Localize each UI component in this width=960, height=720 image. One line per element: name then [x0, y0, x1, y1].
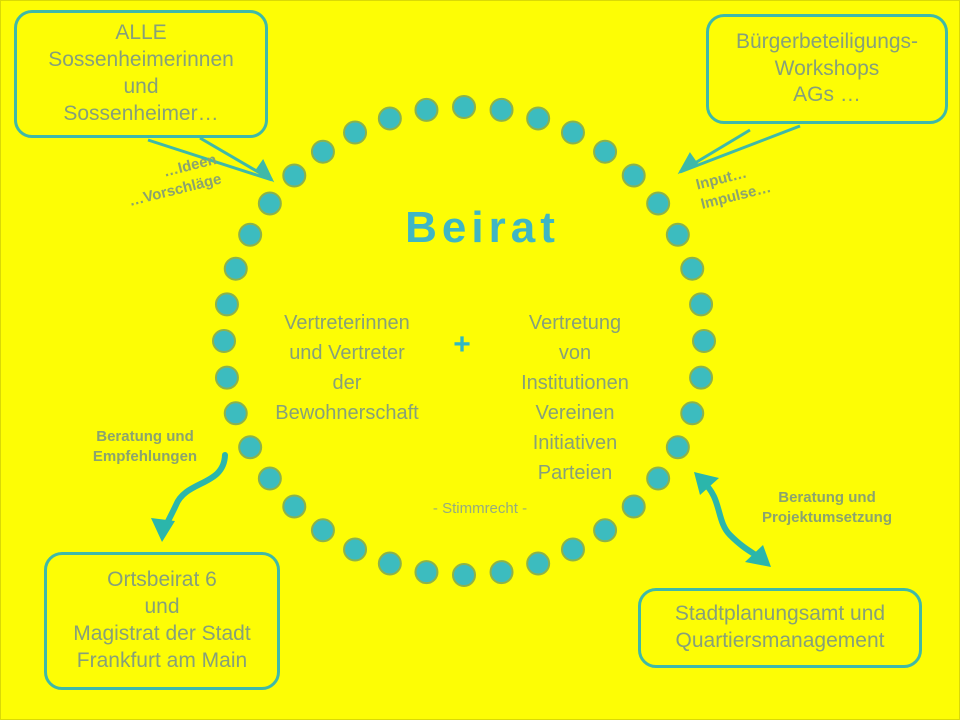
center-line: Institutionen: [480, 368, 670, 398]
center-line: Vereinen: [480, 398, 670, 428]
annotation-line: Projektumsetzung: [752, 508, 902, 528]
speech-bubble-workshops: Bürgerbeteiligungs- Workshops AGs …: [706, 14, 948, 124]
center-line: Vertreterinnen: [252, 308, 442, 338]
box-line: und: [73, 594, 250, 621]
center-line: der: [252, 368, 442, 398]
box-line: Ortsbeirat 6: [73, 567, 250, 594]
arrow-to-ortsbeirat-head: [151, 518, 175, 542]
center-column-institutions: Vertretung von Institutionen Vereinen In…: [480, 308, 670, 488]
page-title: Beirat: [0, 203, 960, 253]
center-line: und Vertreter: [252, 338, 442, 368]
annotation-beratung-projektumsetzung: Beratung und Projektumsetzung: [752, 488, 902, 529]
box-ortsbeirat-magistrat: Ortsbeirat 6 und Magistrat der Stadt Fra…: [44, 552, 280, 690]
bubble-line: ALLE: [48, 20, 234, 47]
box-stadtplanungsamt-quartiersmanagement: Stadtplanungsamt und Quartiersmanagement: [638, 588, 922, 668]
plus-icon: +: [440, 330, 484, 360]
beirat-label: Beirat: [400, 203, 560, 252]
bubble-line: Sossenheimer…: [48, 101, 234, 128]
box-line: Frankfurt am Main: [73, 648, 250, 675]
center-line: Vertretung: [480, 308, 670, 338]
center-line: Parteien: [480, 458, 670, 488]
arrow-to-stadtplanung-head-up: [694, 472, 719, 495]
diagram-canvas: Beirat + Vertreterinnen und Vertreter de…: [0, 0, 960, 720]
center-line: Bewohnerschaft: [252, 398, 442, 428]
bubble-line: und: [48, 74, 234, 101]
bubble-line: Workshops: [736, 56, 918, 83]
box-line: Magistrat der Stadt: [73, 621, 250, 648]
annotation-beratung-empfehlungen: Beratung und Empfehlungen: [84, 427, 206, 468]
speech-bubble-citizens: ALLE Sossenheimerinnen und Sossenheimer…: [14, 10, 268, 138]
bubble-line: Bürgerbeteiligungs-: [736, 29, 918, 56]
annotation-line: Empfehlungen: [84, 447, 206, 467]
annotation-line: Beratung und: [752, 488, 902, 508]
bubble-line: AGs …: [736, 82, 918, 109]
bubble-line: Sossenheimerinnen: [48, 47, 234, 74]
box-line: Stadtplanungsamt und: [675, 601, 885, 628]
annotation-line: Beratung und: [84, 427, 206, 447]
center-line: von: [480, 338, 670, 368]
center-line: Initiativen: [480, 428, 670, 458]
center-column-residents: Vertreterinnen und Vertreter der Bewohne…: [252, 308, 442, 428]
box-line: Quartiersmanagement: [675, 628, 885, 655]
